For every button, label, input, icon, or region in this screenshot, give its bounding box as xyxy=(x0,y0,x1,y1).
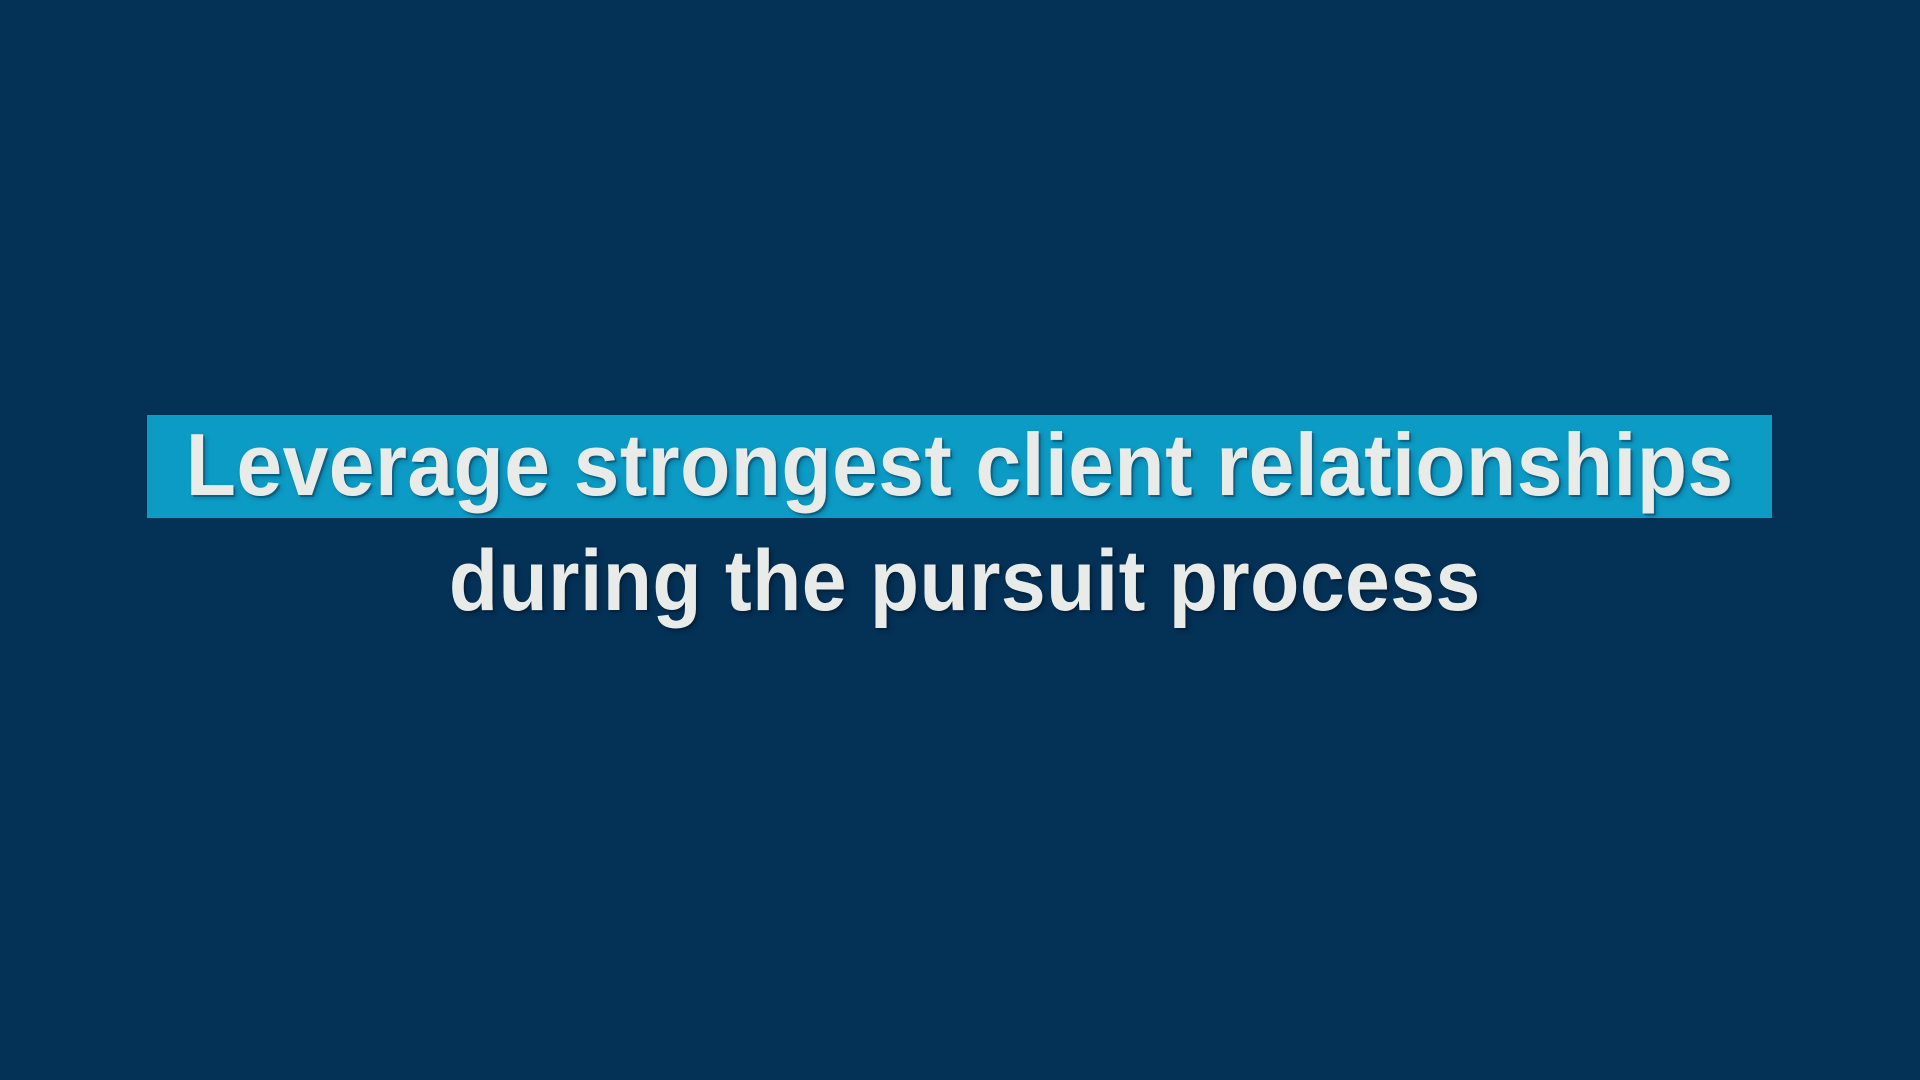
subheadline-row: during the pursuit process xyxy=(0,535,1920,631)
presentation-slide: Leverage strongest client relationships … xyxy=(0,0,1920,1080)
slide-headline: Leverage strongest client relationships xyxy=(186,420,1734,513)
headline-highlight-bar: Leverage strongest client relationships xyxy=(147,415,1772,518)
slide-subheadline: during the pursuit process xyxy=(449,538,1481,629)
